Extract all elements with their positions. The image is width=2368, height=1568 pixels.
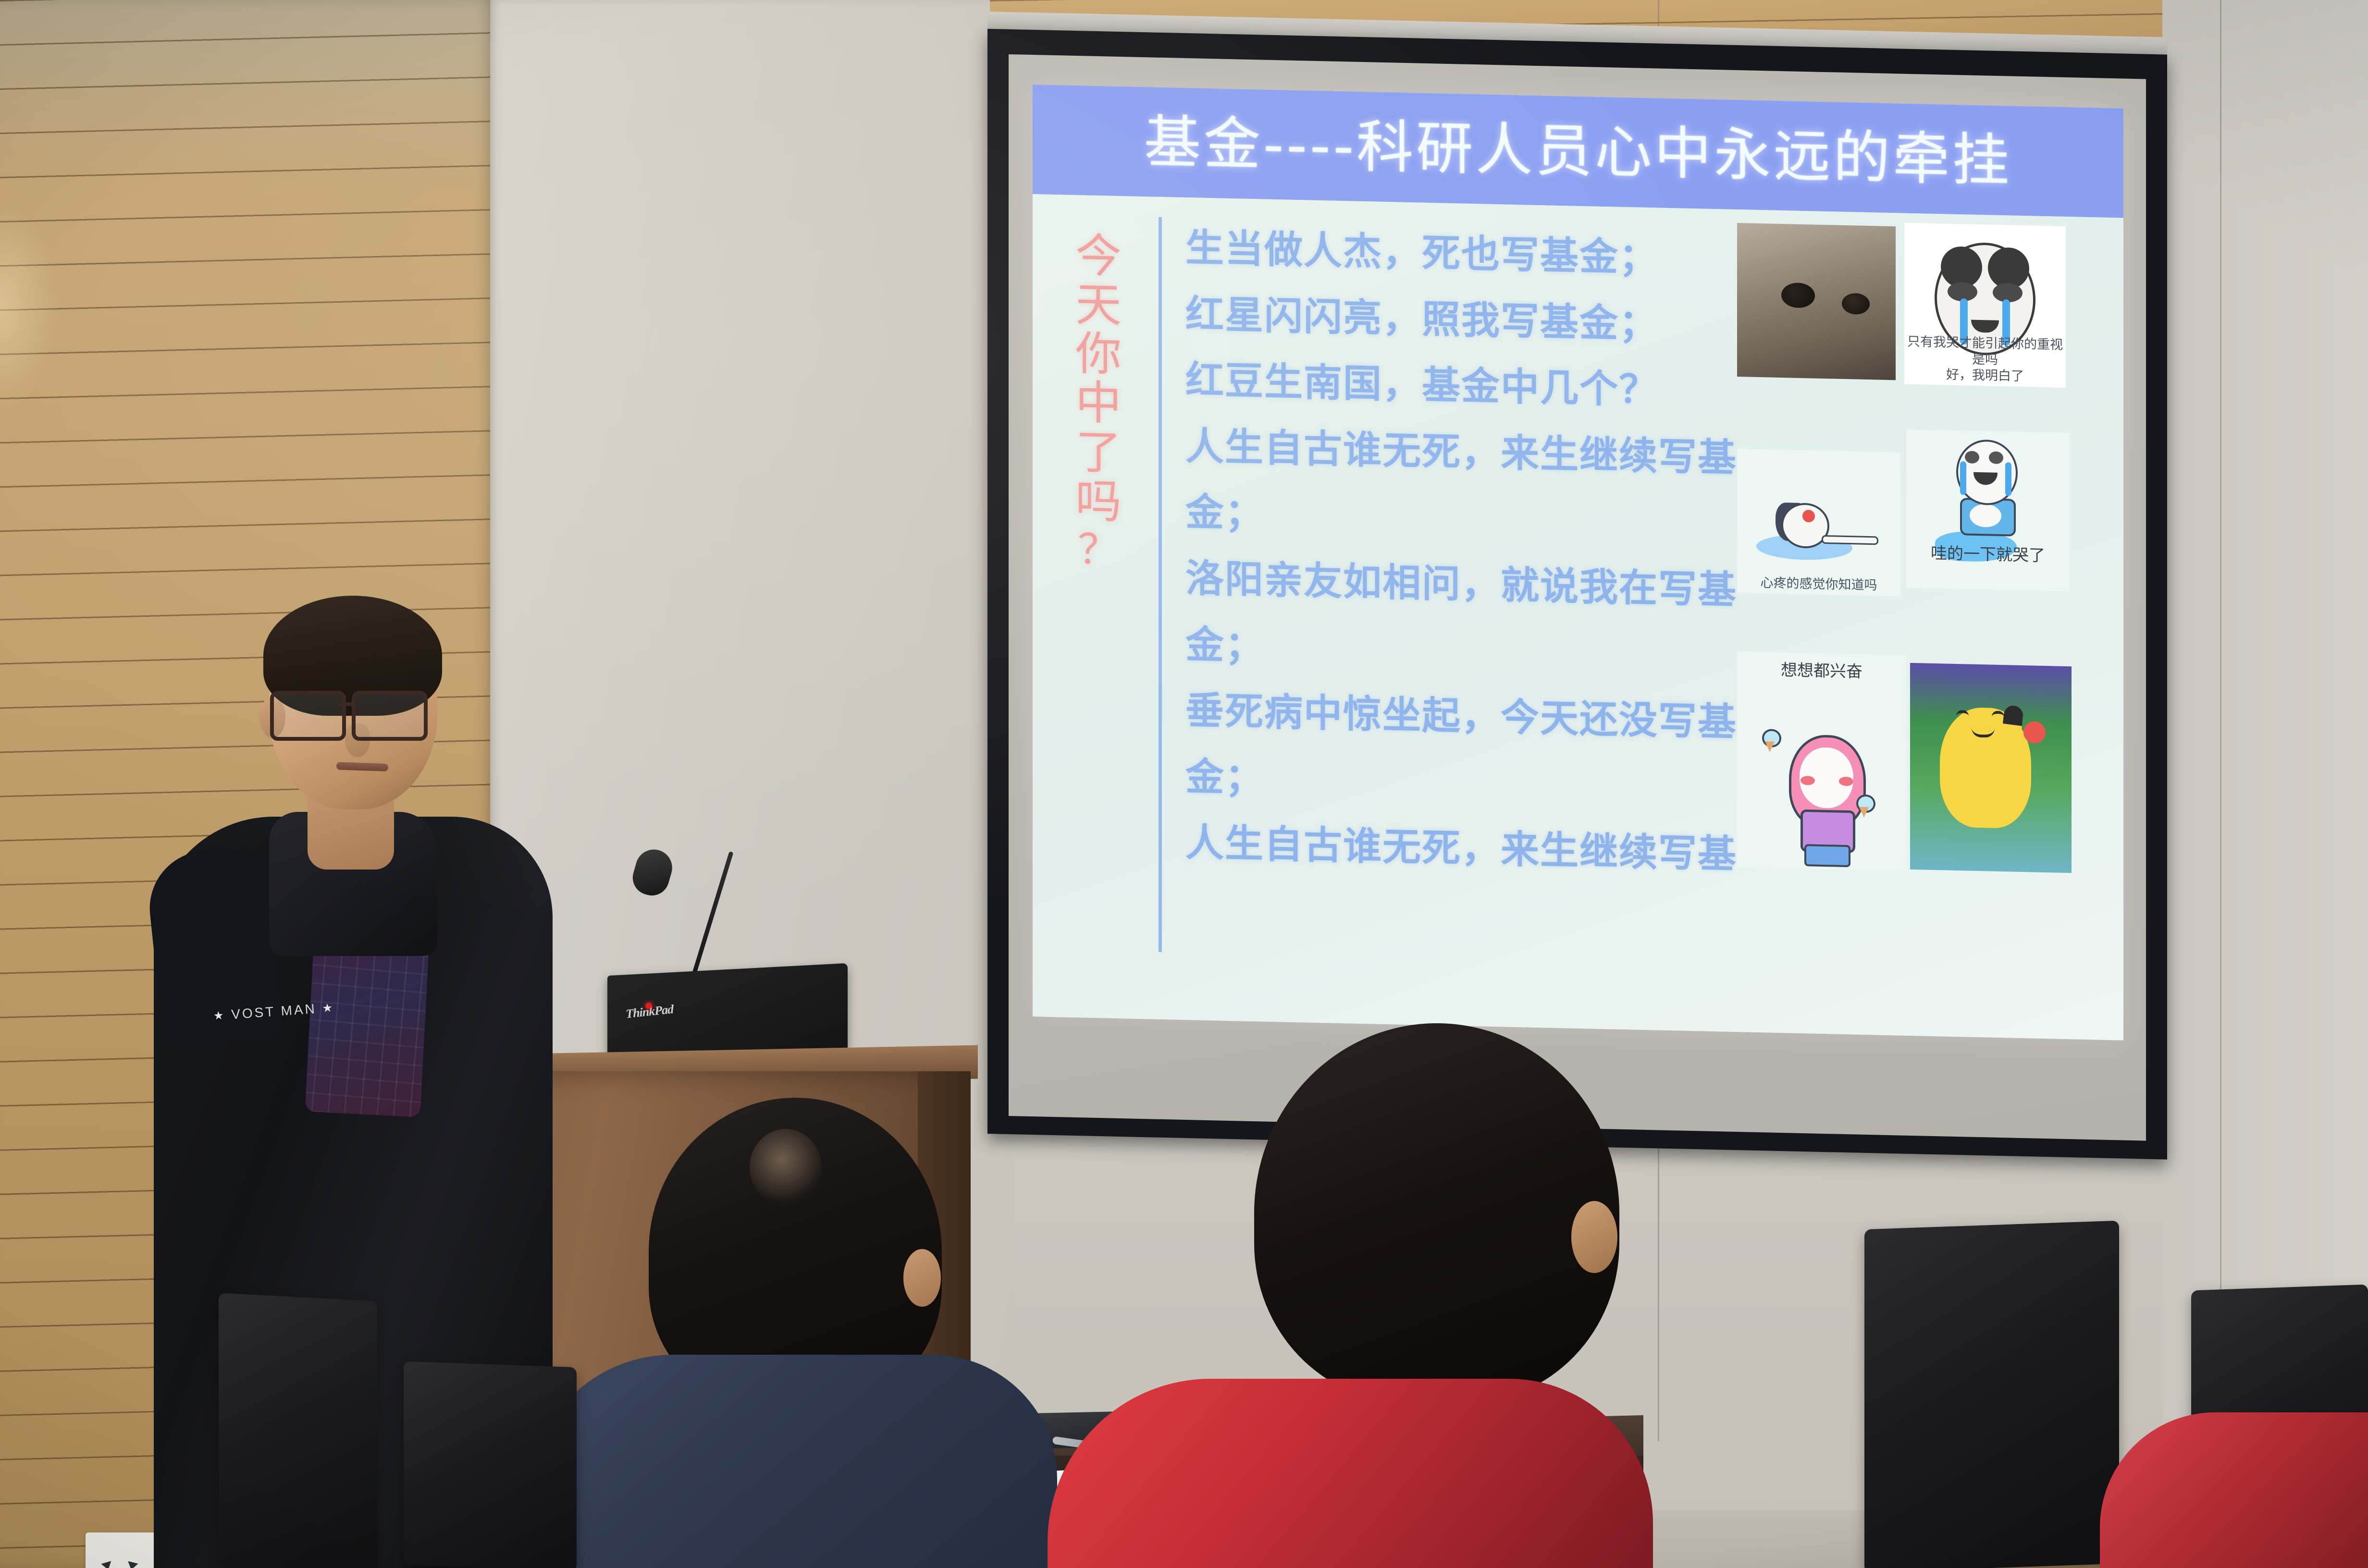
wall-seam-right [2220,0,2221,1441]
excited-girl-ice-cream: 想想都兴奋 [1737,651,1906,871]
pikachu-eye-left [1956,710,1969,719]
eyeglass-lens-left [270,691,346,741]
vq-question-mark: ？ [1078,530,1119,570]
poem-line: 金； [1185,612,1724,689]
slide-title: 基金----科研人员心中永远的牵挂 [1144,113,2012,189]
conference-room-photo: 基金----科研人员心中永远的牵挂 今 天 你 中 了 吗 ？ [0,0,2368,1568]
jacket-badge-text: VOST MAN [231,1001,317,1022]
vq-char-3: 中 [1075,380,1122,426]
crying-doraemon: 哇的一下就哭了 [1906,429,2070,591]
vq-char-1: 天 [1075,282,1122,328]
thinkpad-logo: ThinkPad [625,998,684,1020]
wall-light-glow [0,207,58,408]
meme-collage: 只有我哭才能引起你的重视是吗 好，我明白了 心疼的感觉你知道吗 [1737,219,2117,1025]
sad-figure-on-puddle: 心疼的感觉你知道吗 [1737,449,1900,596]
figure-arm [1822,535,1878,545]
chair-left-front[interactable] [219,1293,377,1568]
girl-shorts [1804,844,1850,867]
poem-line: 金； [1185,744,1724,821]
poem-line: 金； [1185,479,1724,557]
projection-screen: 基金----科研人员心中永远的牵挂 今 天 你 中 了 吗 ？ [987,12,2167,1176]
poem-line: 垂死病中惊坐起，今天还没写基 [1185,677,1724,755]
poem-text-block: 生当做人杰，死也写基金； 红星闪闪亮，照我写基金； 红豆生南国，基金中几个？ 人… [1185,215,1724,887]
poem-line: 红豆生南国，基金中几个？ [1185,347,1724,425]
poem-divider-rule [1159,217,1162,952]
slide-body: 今 天 你 中 了 吗 ？ 生当做人杰，死也写基金； 红星闪闪亮，照我写基金； [1033,194,2123,1041]
meme-caption: 想想都兴奋 [1737,659,1906,683]
audience-member-front-red-jacket [1048,1379,1653,1568]
vq-char-4: 了 [1075,430,1122,475]
pikachu-body [1940,707,2031,829]
chair-right-front[interactable] [1864,1221,2119,1568]
pikachu-eye-right [1992,711,2004,720]
vq-char-0: 今 [1075,233,1122,279]
figure-blush [1802,510,1815,523]
meme-caption: 只有我哭才能引起你的重视是吗 好，我明白了 [1904,333,2066,386]
meme-caption: 哇的一下就哭了 [1906,542,2070,566]
pikachu-cheek [2023,721,2046,744]
vq-char-5: 吗 [1075,479,1122,524]
poem-line: 洛阳亲友如相问，就说我在写基 [1185,545,1724,623]
projection-screen-frame: 基金----科研人员心中永远的牵挂 今 天 你 中 了 吗 ？ [987,29,2167,1160]
presentation-slide: 基金----科研人员心中永远的牵挂 今 天 你 中 了 吗 ？ [1033,85,2123,1041]
crying-panda-face: 只有我哭才能引起你的重视是吗 好，我明白了 [1904,223,2066,388]
poem-line: 红星闪闪亮，照我写基金； [1185,281,1724,359]
poem-line: 生当做人杰，死也写基金； [1185,215,1724,293]
doraemon-tear-left [1960,461,1966,495]
pikachu [1910,663,2072,873]
doraemon-belly [1970,504,2001,527]
eyeglasses-icon [270,691,438,737]
audience-member-front-red-jacket-ear [1571,1201,1617,1273]
meme-caption: 心疼的感觉你知道吗 [1737,575,1900,594]
power-outlet-1[interactable] [86,1532,157,1568]
doraemon-tear-right [2005,462,2011,496]
chair-left-second[interactable] [404,1361,577,1568]
star-icon-right: ★ [322,1001,335,1016]
crying-dog-photo [1737,223,1896,380]
eyeglass-bridge [338,702,353,706]
star-icon-left: ★ [213,1008,226,1023]
girl-blush-left [1801,776,1815,785]
eyeglass-lens-right [352,691,428,741]
audience-member-front-blue-shirt-ear [903,1249,941,1307]
poem-line: 人生自古谁无死，来生继续写基 [1185,809,1724,887]
audience-member-crown [750,1129,822,1206]
ice-cream-cone-left [1761,729,1778,750]
girl-blush-right [1839,777,1853,786]
audience-member-front-red-jacket-head [1254,1023,1619,1403]
panda-mouth [1971,319,1999,332]
doraemon-eye-right [1989,451,2003,464]
ice-cream-cone-right [1855,794,1873,816]
projection-surface: 基金----科研人员心中永远的牵挂 今 天 你 中 了 吗 ？ [1009,54,2146,1141]
plaster-wall-right [2162,0,2368,1489]
vq-char-2: 你 [1075,331,1122,377]
audience-member-front-blue-shirt [529,1355,1057,1568]
poem-line: 人生自古谁无死，来生继续写基 [1185,413,1724,491]
vertical-question-text: 今 天 你 中 了 吗 ？ [1058,233,1139,571]
doraemon-eye-left [1965,451,1979,464]
